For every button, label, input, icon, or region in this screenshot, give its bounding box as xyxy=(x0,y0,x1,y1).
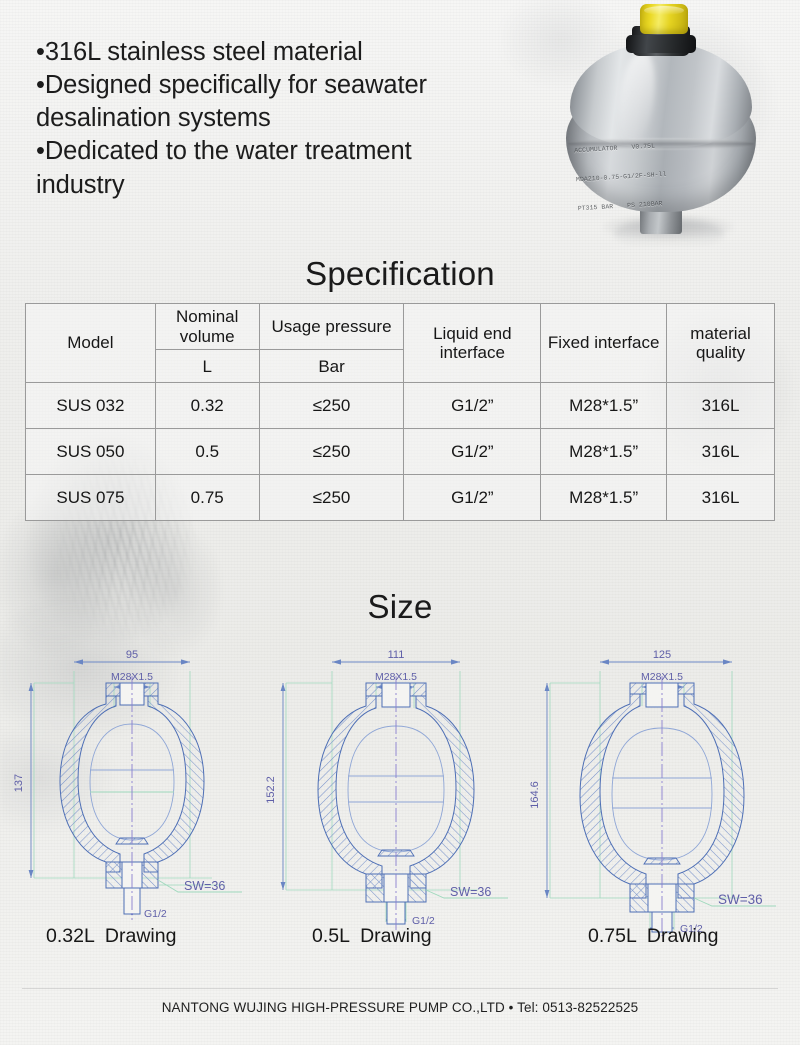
table-header-row-main: Model Nominal volume Usage pressure Liqu… xyxy=(26,304,775,350)
cell-fixed-interface: M28*1.5” xyxy=(541,429,667,475)
product-photo: ACCUMULATOR V0.75L MDA210-0.75-G1/2F-SH-… xyxy=(528,2,800,247)
dim-wrench-flat-1: SW=36 xyxy=(450,885,491,899)
drawing-caption-0.5L: 0.5L Drawing xyxy=(312,925,432,948)
table-row: SUS 032 0.32 ≤250 G1/2” M28*1.5” 316L xyxy=(26,383,775,429)
cell-nominal-volume: 0.32 xyxy=(155,383,259,429)
specification-table-wrapper: Model Nominal volume Usage pressure Liqu… xyxy=(25,303,775,521)
cell-fixed-interface: M28*1.5” xyxy=(541,383,667,429)
feature-bullet-item: •Dedicated to the water treatment indust… xyxy=(36,135,506,201)
cell-usage-pressure: ≤250 xyxy=(259,429,404,475)
engraving-line3-right: PS 210BAR xyxy=(627,199,663,211)
dim-height-1: 152.2 xyxy=(265,776,277,804)
cell-liquid-end-interface: G1/2” xyxy=(404,383,541,429)
col-header-unit-bar: Bar xyxy=(259,350,404,383)
footer-divider xyxy=(22,988,778,989)
cell-usage-pressure: ≤250 xyxy=(259,383,404,429)
engraving-line3-left: PT315 BAR xyxy=(578,202,614,214)
drawing-0.32L: 95 M28X1.5 137 SW=36 G1/2 xyxy=(2,640,268,940)
dim-top-thread-2: M28X1.5 xyxy=(641,671,683,683)
cell-model: SUS 032 xyxy=(26,383,156,429)
col-header-model: Model xyxy=(26,304,156,383)
drawing-svg-1: 111 M28X1.5 152.2 SW=36 G1/2 xyxy=(264,640,530,940)
engraving-line1-right: V0.75L xyxy=(631,142,655,153)
dim-wrench-flat-0: SW=36 xyxy=(184,879,225,893)
drawing-svg-2: 125 M28X1.5 164.6 SW=36 G1/2 xyxy=(526,640,792,940)
col-header-unit-litre: L xyxy=(155,350,259,383)
cell-fixed-interface: M28*1.5” xyxy=(541,475,667,521)
feature-bullet-list: •316L stainless steel material •Designed… xyxy=(36,36,506,202)
engraving-line2: MDA210-0.75-G1/2F-SH-ll xyxy=(576,165,752,185)
col-header-usage-pressure: Usage pressure xyxy=(259,304,404,350)
drawing-0.5L: 111 M28X1.5 152.2 SW=36 G1/2 xyxy=(264,640,530,940)
cell-material-quality: 316L xyxy=(667,383,775,429)
drawing-caption-0.75L: 0.75L Drawing xyxy=(588,925,718,948)
cell-nominal-volume: 0.5 xyxy=(155,429,259,475)
accumulator-section-0 xyxy=(60,676,204,920)
drawing-caption-0.32L: 0.32L Drawing xyxy=(46,925,176,948)
table-body: SUS 032 0.32 ≤250 G1/2” M28*1.5” 316L SU… xyxy=(26,383,775,521)
dim-bottom-thread-0: G1/2 xyxy=(144,908,167,920)
cell-material-quality: 316L xyxy=(667,475,775,521)
size-heading: Size xyxy=(0,588,800,626)
drawing-captions-row: 0.32L Drawing 0.5L Drawing 0.75L Drawing xyxy=(0,925,800,959)
cell-nominal-volume: 0.75 xyxy=(155,475,259,521)
table-row: SUS 075 0.75 ≤250 G1/2” M28*1.5” 316L xyxy=(26,475,775,521)
drawing-0.75L: 125 M28X1.5 164.6 SW=36 G1/2 xyxy=(526,640,792,940)
dim-width-2: 125 xyxy=(653,649,671,661)
drawings-row: 95 M28X1.5 137 SW=36 G1/2 xyxy=(0,640,800,940)
footer-company-contact: NANTONG WUJING HIGH-PRESSURE PUMP CO.,LT… xyxy=(0,1000,800,1015)
table-head: Model Nominal volume Usage pressure Liqu… xyxy=(26,304,775,383)
specification-table: Model Nominal volume Usage pressure Liqu… xyxy=(25,303,775,521)
col-header-material-quality: material quality xyxy=(667,304,775,383)
cell-liquid-end-interface: G1/2” xyxy=(404,475,541,521)
table-row: SUS 050 0.5 ≤250 G1/2” M28*1.5” 316L xyxy=(26,429,775,475)
engraving-line1-left: ACCUMULATOR xyxy=(574,144,618,156)
dim-top-thread-1: M28X1.5 xyxy=(375,671,417,683)
specification-heading: Specification xyxy=(0,255,800,293)
feature-bullet-item: •Designed specifically for seawater desa… xyxy=(36,69,506,135)
feature-bullet-item: •316L stainless steel material xyxy=(36,36,506,69)
dim-height-0: 137 xyxy=(13,774,25,792)
cell-model: SUS 075 xyxy=(26,475,156,521)
product-yellow-cap xyxy=(640,4,688,34)
col-header-fixed-interface: Fixed interface xyxy=(541,304,667,383)
col-header-nominal-volume: Nominal volume xyxy=(155,304,259,350)
cell-model: SUS 050 xyxy=(26,429,156,475)
dim-height-2: 164.6 xyxy=(529,781,541,809)
cell-usage-pressure: ≤250 xyxy=(259,475,404,521)
col-header-liquid-end-interface: Liquid end interface xyxy=(404,304,541,383)
dim-wrench-flat-2: SW=36 xyxy=(718,892,763,907)
dim-width-1: 111 xyxy=(388,649,405,661)
cell-material-quality: 316L xyxy=(667,429,775,475)
dim-width-0: 95 xyxy=(126,649,138,661)
drawing-svg-0: 95 M28X1.5 137 SW=36 G1/2 xyxy=(2,640,268,940)
cell-liquid-end-interface: G1/2” xyxy=(404,429,541,475)
dim-top-thread-0: M28X1.5 xyxy=(111,671,153,683)
